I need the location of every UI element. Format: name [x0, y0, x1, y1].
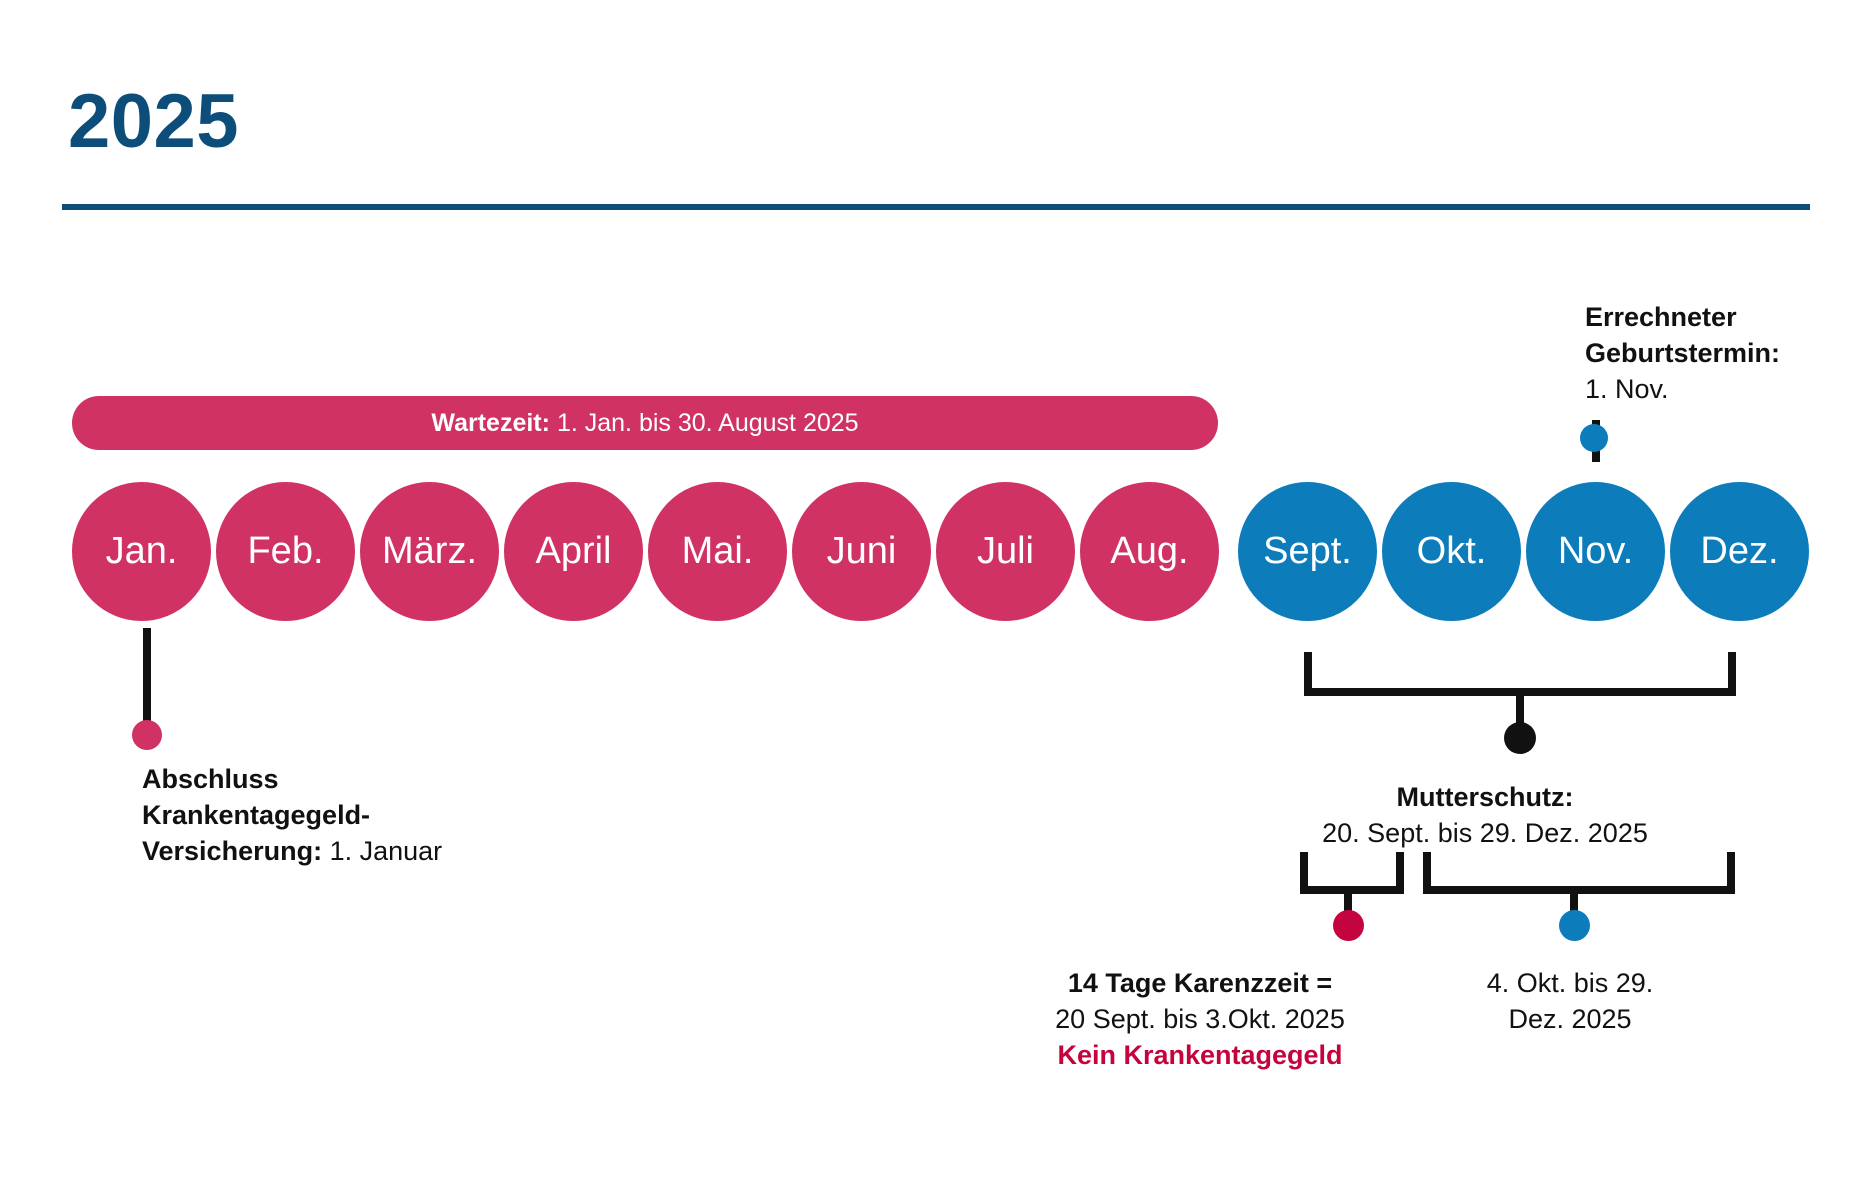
benefit-line2: Dez. 2025 [1440, 1002, 1700, 1038]
month-circle-nov: Nov. [1522, 478, 1669, 625]
month-label: Sept. [1263, 530, 1352, 573]
month-label: Nov. [1558, 530, 1633, 573]
benefit-line1: 4. Okt. bis 29. [1440, 966, 1700, 1002]
infographic-canvas: 2025 Wartezeit: 1. Jan. bis 30. August 2… [0, 0, 1875, 1178]
karenz-annotation: 14 Tage Karenzzeit = 20 Sept. bis 3.Okt.… [1000, 966, 1400, 1074]
month-label: Feb. [247, 530, 323, 573]
policy-start-title-label: Versicherung: [142, 836, 322, 866]
month-circle-jan: Jan. [68, 478, 215, 625]
month-label: Jan. [106, 530, 178, 573]
benefit-marker-dot [1559, 910, 1590, 941]
month-label: Aug. [1110, 530, 1188, 573]
month-label: Okt. [1417, 530, 1487, 573]
karenz-value: 20 Sept. bis 3.Okt. 2025 [1000, 1002, 1400, 1038]
benefit-bracket [1423, 852, 1735, 894]
month-circle-maerz: März. [356, 478, 503, 625]
policy-start-connector [143, 628, 151, 726]
month-circle-juli: Juli [932, 478, 1079, 625]
month-circle-mai: Mai. [644, 478, 791, 625]
policy-start-title-line2: Krankentagegeld- [142, 798, 702, 834]
month-label: April [535, 530, 611, 573]
birth-date-marker-dot [1580, 424, 1608, 452]
month-circle-sept: Sept. [1234, 478, 1381, 625]
karenz-bracket [1300, 852, 1404, 894]
karenz-note: Kein Krankentagegeld [1000, 1038, 1400, 1074]
policy-start-title-line3: Versicherung: 1. Januar [142, 834, 702, 870]
karenz-title: 14 Tage Karenzzeit = [1000, 966, 1400, 1002]
month-circle-dez: Dez. [1666, 478, 1813, 625]
waiting-period-value: 1. Jan. bis 30. August 2025 [557, 409, 859, 438]
waiting-period-banner: Wartezeit: 1. Jan. bis 30. August 2025 [72, 396, 1218, 450]
birth-date-annotation: Errechneter Geburtstermin: 1. Nov. [1585, 300, 1865, 408]
month-circle-april: April [500, 478, 647, 625]
month-circle-aug: Aug. [1076, 478, 1223, 625]
month-label: Dez. [1700, 530, 1778, 573]
maternity-title: Mutterschutz: [1265, 780, 1705, 816]
month-label: März. [382, 530, 477, 573]
karenz-marker-dot [1333, 910, 1364, 941]
month-circle-feb: Feb. [212, 478, 359, 625]
policy-start-marker-dot [132, 720, 162, 750]
maternity-marker-dot [1504, 722, 1536, 754]
maternity-annotation: Mutterschutz: 20. Sept. bis 29. Dez. 202… [1265, 780, 1705, 852]
birth-date-value: 1. Nov. [1585, 372, 1865, 408]
page-title: 2025 [68, 84, 239, 160]
birth-date-title-line2: Geburtstermin: [1585, 336, 1865, 372]
month-label: Mai. [682, 530, 754, 573]
waiting-period-label: Wartezeit: [431, 409, 550, 438]
policy-start-title-line1: Abschluss [142, 762, 702, 798]
maternity-value: 20. Sept. bis 29. Dez. 2025 [1265, 816, 1705, 852]
month-circle-juni: Juni [788, 478, 935, 625]
month-label: Juli [977, 530, 1034, 573]
benefit-annotation: 4. Okt. bis 29. Dez. 2025 [1440, 966, 1700, 1038]
policy-start-annotation: Abschluss Krankentagegeld- Versicherung:… [142, 762, 702, 870]
header-divider [62, 204, 1810, 210]
policy-start-value: 1. Januar [330, 836, 443, 866]
month-circle-okt: Okt. [1378, 478, 1525, 625]
month-label: Juni [827, 530, 897, 573]
birth-date-title-line1: Errechneter [1585, 300, 1865, 336]
